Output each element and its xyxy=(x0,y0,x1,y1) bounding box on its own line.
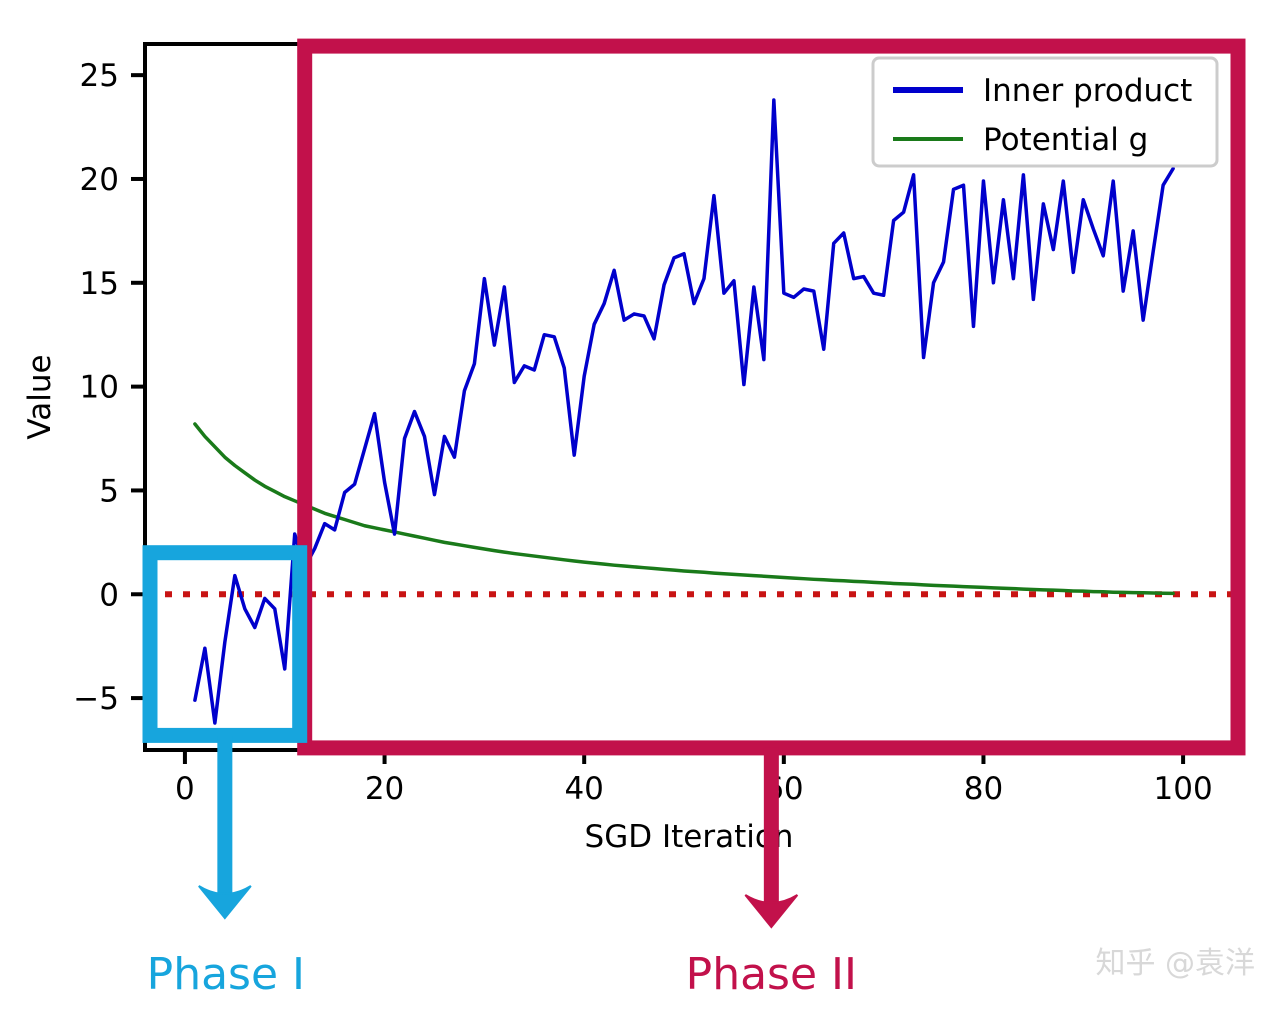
y-tick-label: 25 xyxy=(80,58,119,94)
y-tick-label: −5 xyxy=(73,681,119,717)
legend-label-inner-product: Inner product xyxy=(983,73,1192,109)
y-tick-label: 15 xyxy=(80,266,119,302)
x-tick-label: 20 xyxy=(365,771,404,807)
chart-figure: 2520151050−5 020406080100 Value SGD Iter… xyxy=(0,0,1278,1014)
x-tick-label: 80 xyxy=(964,771,1003,807)
legend-label-potential-g: Potential g xyxy=(983,122,1148,158)
phase2-label: Phase II xyxy=(686,949,857,1000)
y-tick-label: 20 xyxy=(80,162,119,198)
y-tick-label: 5 xyxy=(99,473,119,509)
y-axis-title: Value xyxy=(22,354,58,439)
x-tick-label: 0 xyxy=(175,771,195,807)
x-axis-title: SGD Iteration xyxy=(585,819,794,855)
y-tick-label: 10 xyxy=(80,370,119,406)
y-tick-label: 0 xyxy=(99,577,119,613)
chart-legend: Inner product Potential g xyxy=(873,58,1217,166)
x-tick-label: 100 xyxy=(1154,771,1213,807)
figure-root: 2520151050−5 020406080100 Value SGD Iter… xyxy=(0,0,1278,1014)
phase1-label: Phase I xyxy=(147,949,305,1000)
watermark-text: 知乎 @袁洋 xyxy=(1095,946,1255,981)
x-tick-label: 40 xyxy=(564,771,603,807)
